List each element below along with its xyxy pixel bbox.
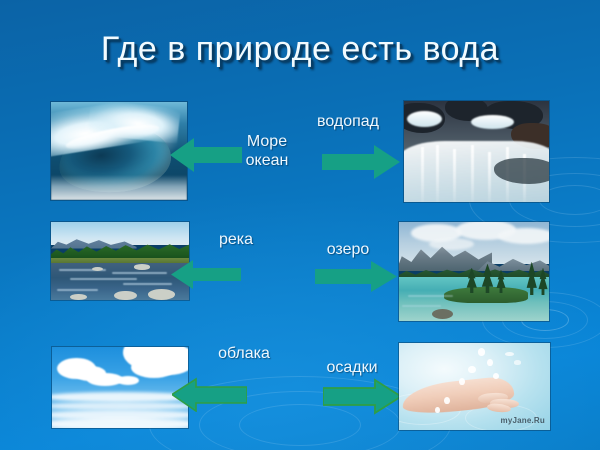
label-precipitation: осадки <box>306 358 398 377</box>
label-waterfall: водопад <box>300 112 396 131</box>
photo-ocean-wave <box>51 102 187 200</box>
arrow-left-to-clouds <box>172 377 247 412</box>
photo-lake <box>399 222 549 321</box>
photo-river <box>51 222 189 300</box>
label-sea-ocean: Море океан <box>222 132 312 170</box>
label-sea-line2: океан <box>222 151 312 170</box>
label-lake: озеро <box>305 240 391 259</box>
label-river: река <box>196 230 276 249</box>
arrow-right-to-lake <box>315 259 397 294</box>
photo-precipitation: myJane.Ru <box>399 343 550 430</box>
photo-waterfall <box>404 101 549 202</box>
label-clouds: облака <box>196 344 292 363</box>
slide-canvas: Где в природе есть вода Море океан водоп… <box>0 0 600 450</box>
slide-title: Где в природе есть вода <box>0 28 600 70</box>
photo-clouds <box>52 347 188 428</box>
image-watermark: myJane.Ru <box>501 416 545 425</box>
arrow-right-to-waterfall <box>322 143 400 181</box>
arrow-left-to-river <box>171 258 241 291</box>
arrow-right-to-precipitation <box>323 378 401 415</box>
label-sea-line1: Море <box>222 132 312 151</box>
